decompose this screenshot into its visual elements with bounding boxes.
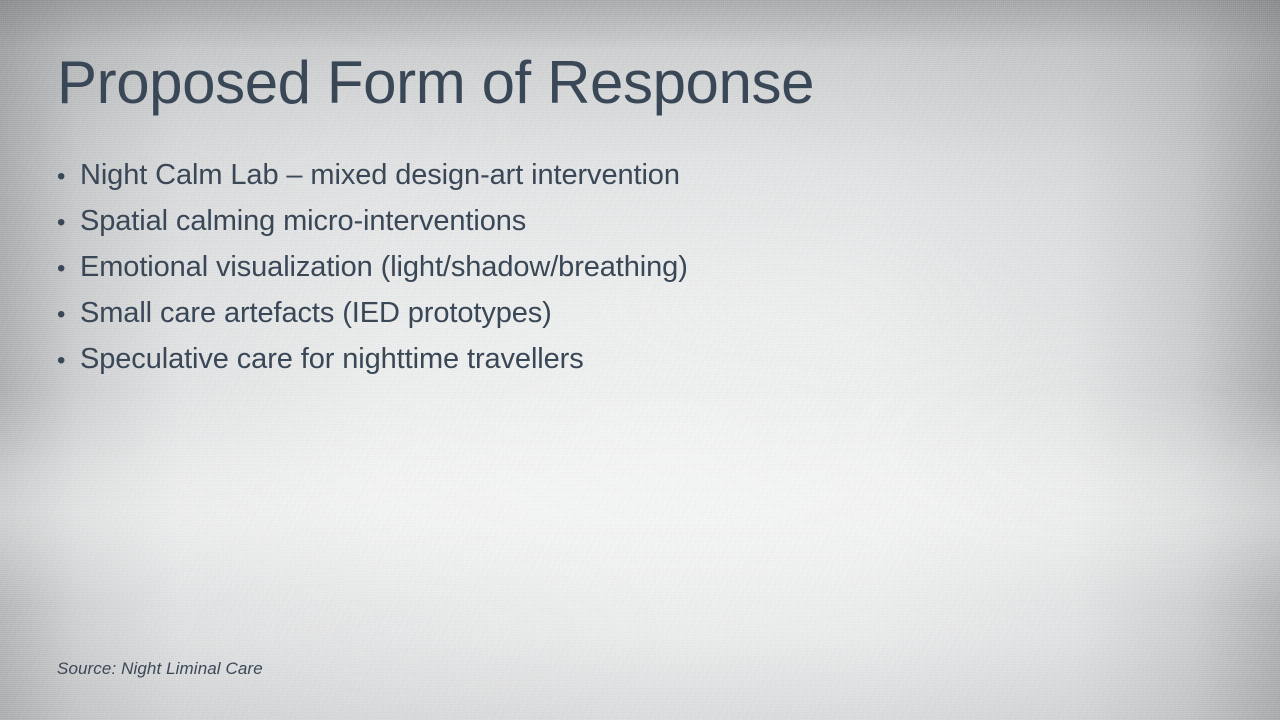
bullet-point-icon: • (57, 154, 80, 200)
list-item: • Spatial calming micro-interventions (57, 198, 1177, 244)
list-item: • Emotional visualization (light/shadow/… (57, 244, 1177, 290)
bullet-point-icon: • (57, 338, 80, 384)
slide-content: Proposed Form of Response • Night Calm L… (0, 0, 1280, 720)
list-item-label: Small care artefacts (IED prototypes) (80, 290, 552, 336)
list-item-label: Spatial calming micro-interventions (80, 198, 526, 244)
source-caption: Source: Night Liminal Care (57, 657, 263, 681)
list-item: • Night Calm Lab – mixed design-art inte… (57, 152, 1177, 198)
list-item-label: Emotional visualization (light/shadow/br… (80, 244, 688, 290)
page-title: Proposed Form of Response (57, 49, 814, 116)
bullet-point-icon: • (57, 246, 80, 292)
list-item: • Speculative care for nighttime travell… (57, 336, 1177, 382)
slide-canvas: Proposed Form of Response • Night Calm L… (0, 0, 1280, 720)
list-item-label: Night Calm Lab – mixed design-art interv… (80, 152, 680, 198)
bullet-point-icon: • (57, 200, 80, 246)
list-item: • Small care artefacts (IED prototypes) (57, 290, 1177, 336)
bullet-list: • Night Calm Lab – mixed design-art inte… (57, 152, 1177, 382)
bullet-point-icon: • (57, 292, 80, 338)
list-item-label: Speculative care for nighttime traveller… (80, 336, 584, 382)
